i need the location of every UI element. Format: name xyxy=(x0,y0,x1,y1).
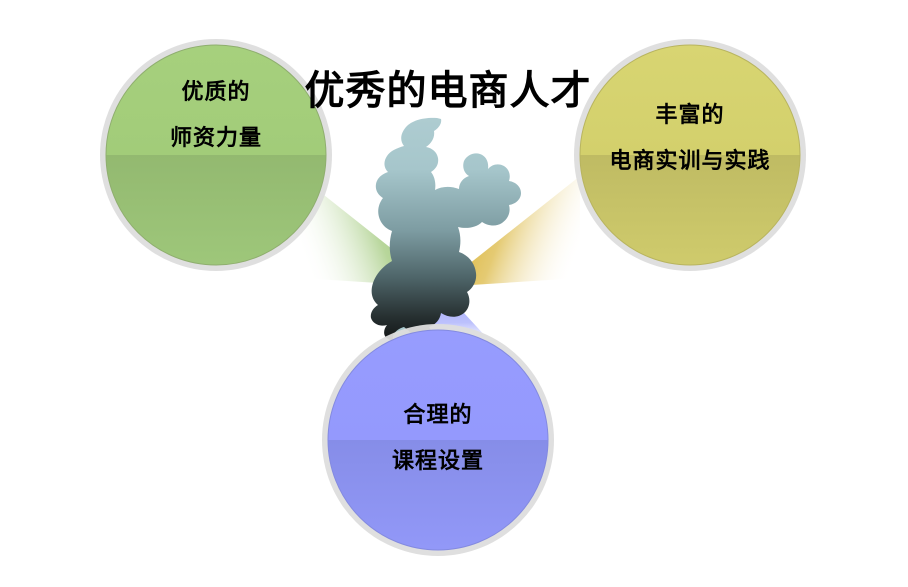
node-fill-yellow xyxy=(580,45,800,265)
node-fill-green xyxy=(106,45,326,265)
node-circle-green[interactable] xyxy=(100,39,332,271)
node-circle-blue[interactable] xyxy=(322,324,554,556)
diagram-canvas: 优秀的电商人才 优质的 师资力量 丰富的 电商实训与实践 合理的 课程设置 xyxy=(0,0,908,587)
diagram-artwork xyxy=(0,0,908,587)
node-fill-blue xyxy=(328,330,548,550)
node-circle-yellow[interactable] xyxy=(574,39,806,271)
